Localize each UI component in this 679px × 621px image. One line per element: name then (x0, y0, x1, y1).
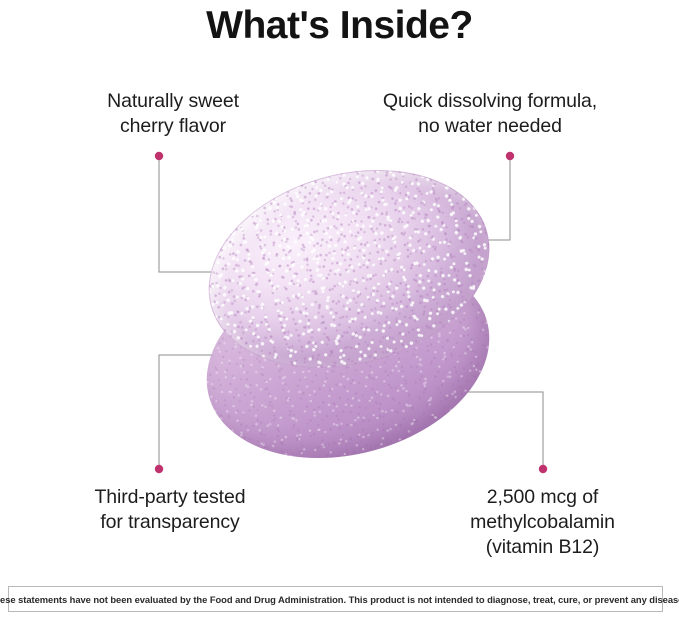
callout-flavor: Naturally sweet cherry flavor (28, 89, 318, 139)
page-title: What's Inside? (0, 2, 679, 50)
infographic-canvas: What's Inside? Naturally sweet cherry fl… (0, 0, 679, 621)
disclaimer-box: *These statements have not been evaluate… (8, 586, 663, 612)
connector-dot-tested (155, 465, 163, 473)
connector-dot-dissolving (506, 152, 514, 160)
connector-dot-flavor (155, 152, 163, 160)
connector-dot-dosage (539, 465, 547, 473)
callout-dissolving-line-2: no water needed (340, 114, 640, 139)
callout-flavor-line-2: cherry flavor (28, 114, 318, 139)
disclaimer-text: *These statements have not been evaluate… (0, 594, 679, 605)
callout-dosage-line-1: 2,500 mcg of (395, 485, 679, 510)
callout-tested-line-1: Third-party tested (25, 485, 315, 510)
product-tablet-image (196, 168, 496, 458)
callout-dissolving-line-1: Quick dissolving formula, (340, 89, 640, 114)
callout-dosage-line-3: (vitamin B12) (395, 535, 679, 560)
callout-flavor-line-1: Naturally sweet (28, 89, 318, 114)
callout-dosage-line-2: methylcobalamin (395, 510, 679, 535)
callout-dosage: 2,500 mcg of methylcobalamin (vitamin B1… (395, 485, 679, 560)
callout-tested-line-2: for transparency (25, 510, 315, 535)
callout-dissolving: Quick dissolving formula, no water neede… (340, 89, 640, 139)
callout-tested: Third-party tested for transparency (25, 485, 315, 535)
